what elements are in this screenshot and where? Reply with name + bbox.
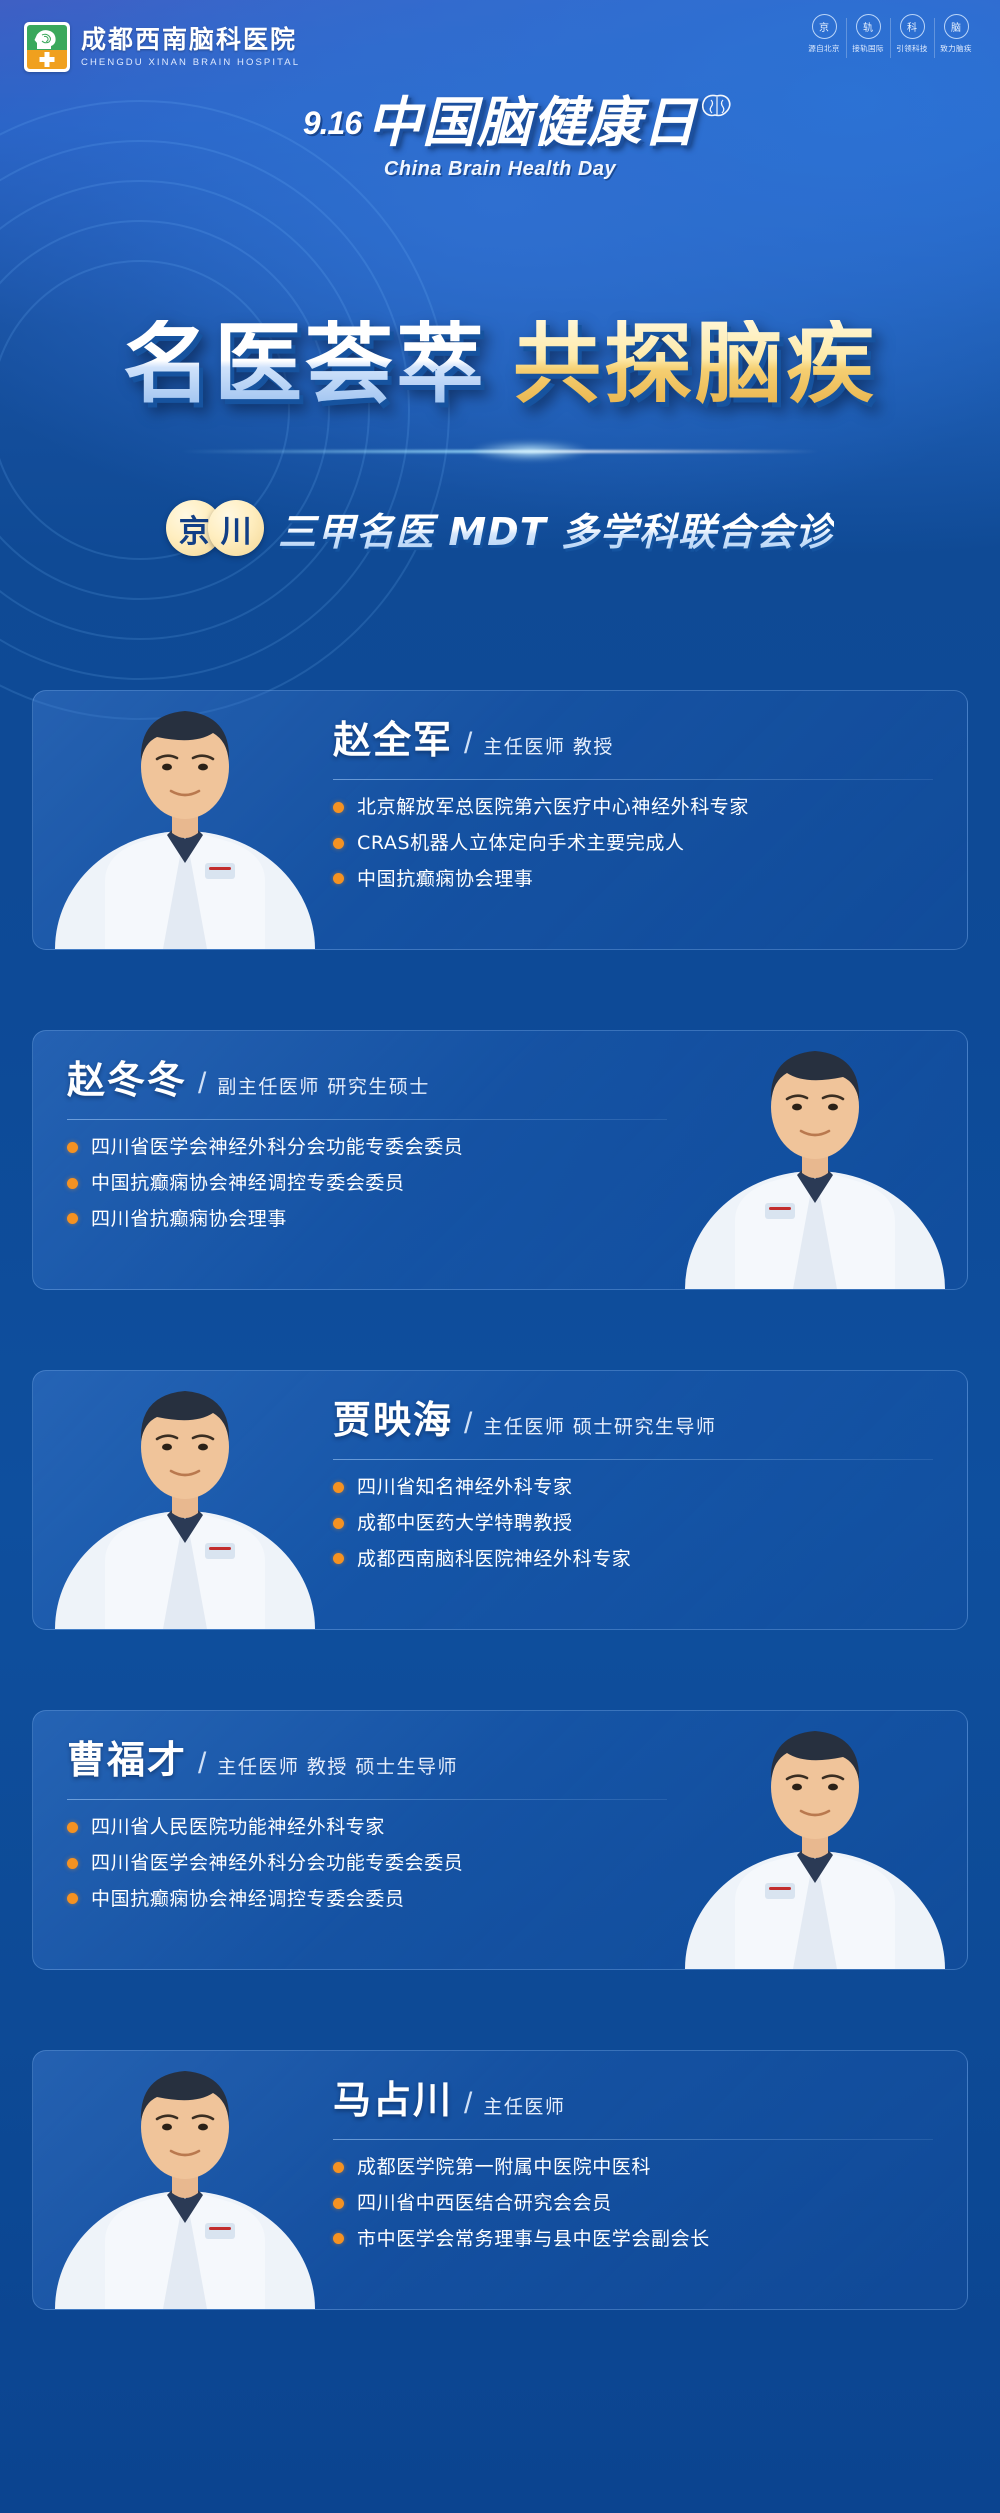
bullet-dot-icon	[333, 1518, 344, 1529]
doctor-photo	[45, 649, 325, 949]
name-title-separator: /	[464, 1407, 472, 1441]
event-date: 9.16	[303, 108, 361, 138]
doctor-card[interactable]: 曹福才/主任医师 教授 硕士生导师四川省人民医院功能神经外科专家四川省医学会神经…	[32, 1710, 968, 1970]
doctor-card[interactable]: 赵全军/主任医师 教授北京解放军总医院第六医疗中心神经外科专家CRAS机器人立体…	[32, 690, 968, 950]
doctor-nameline: 贾映海/主任医师 硕士研究生导师	[333, 1401, 933, 1441]
doctor-photo	[675, 1669, 955, 1969]
credential-text: 四川省抗癫痫协会理事	[91, 1208, 287, 1231]
bullet-dot-icon	[333, 838, 344, 849]
feature-badges: 京源自北京轨接轨国际科引领科技脑致力脑疾	[802, 14, 978, 54]
feature-badge-2: 轨接轨国际	[846, 14, 890, 54]
feature-badge-3: 科引领科技	[890, 14, 934, 54]
credential-item: 四川省中西医结合研究会会员	[333, 2192, 933, 2215]
medical-cross-icon	[40, 52, 55, 67]
credential-item: CRAS机器人立体定向手术主要完成人	[333, 832, 933, 855]
doctor-photo	[45, 1329, 325, 1629]
feature-badge-label: 致力脑疾	[938, 43, 974, 54]
headline-part-2: 共探脑疾	[513, 320, 877, 408]
card-divider	[67, 1799, 667, 1800]
doctor-title: 副主任医师 研究生硕士	[217, 1072, 430, 1099]
doctor-title: 主任医师 硕士研究生导师	[483, 1412, 716, 1439]
credential-text: CRAS机器人立体定向手术主要完成人	[357, 832, 685, 855]
event-title-cn: 中国脑健康日	[367, 96, 697, 150]
headline-part-1: 名医荟萃	[123, 320, 487, 408]
bullet-dot-icon	[333, 873, 344, 884]
credentials-list: 北京解放军总医院第六医疗中心神经外科专家CRAS机器人立体定向手术主要完成人中国…	[333, 796, 933, 890]
credential-text: 四川省人民医院功能神经外科专家	[91, 1816, 385, 1839]
doctor-card[interactable]: 赵冬冬/副主任医师 研究生硕士四川省医学会神经外科分会功能专委会委员中国抗癫痫协…	[32, 1030, 968, 1290]
credential-item: 四川省知名神经外科专家	[333, 1476, 933, 1499]
credential-text: 成都中医药大学特聘教授	[357, 1512, 573, 1535]
head-silhouette-icon	[33, 29, 58, 50]
brain-icon	[702, 94, 732, 120]
circle-badge-icon: 科	[900, 14, 925, 39]
doctor-nameline: 赵全军/主任医师 教授	[333, 721, 933, 761]
doctor-info: 马占川/主任医师成都医学院第一附属中医院中医科四川省中西医结合研究会会员市中医学…	[333, 2081, 933, 2263]
credential-item: 成都西南脑科医院神经外科专家	[333, 1548, 933, 1571]
doctor-photo-wrapper	[45, 649, 325, 949]
doctor-name: 贾映海	[333, 1401, 453, 1439]
card-divider	[333, 1459, 933, 1460]
credential-item: 成都医学院第一附属中医院中医科	[333, 2156, 933, 2179]
doctor-name: 马占川	[333, 2081, 453, 2119]
doctor-card[interactable]: 贾映海/主任医师 硕士研究生导师四川省知名神经外科专家成都中医药大学特聘教授成都…	[32, 1370, 968, 1630]
credential-text: 北京解放军总医院第六医疗中心神经外科专家	[357, 796, 749, 819]
doctor-nameline: 赵冬冬/副主任医师 研究生硕士	[67, 1061, 667, 1101]
hospital-logo: 成都西南脑科医院 CHENGDU XINAN BRAIN HOSPITAL	[24, 22, 300, 72]
bullet-dot-icon	[67, 1858, 78, 1869]
glow-highlight	[470, 441, 590, 461]
doctor-photo	[675, 989, 955, 1289]
bullet-dot-icon	[67, 1142, 78, 1153]
card-divider	[333, 779, 933, 780]
credential-item: 成都中医药大学特聘教授	[333, 1512, 933, 1535]
feature-badge-1: 京源自北京	[802, 14, 846, 54]
credential-text: 四川省医学会神经外科分会功能专委会委员	[91, 1136, 463, 1159]
hospital-name-cn: 成都西南脑科医院	[81, 26, 300, 54]
doctor-title: 主任医师 教授	[483, 732, 614, 759]
doctor-name: 赵全军	[333, 721, 453, 759]
doctor-info: 赵全军/主任医师 教授北京解放军总医院第六医疗中心神经外科专家CRAS机器人立体…	[333, 721, 933, 903]
credential-item: 四川省医学会神经外科分会功能专委会委员	[67, 1852, 667, 1875]
credential-item: 北京解放军总医院第六医疗中心神经外科专家	[333, 796, 933, 819]
credential-text: 成都医学院第一附属中医院中医科	[357, 2156, 651, 2179]
doctor-photo-wrapper	[45, 2009, 325, 2309]
credential-item: 中国抗癫痫协会神经调控专委会委员	[67, 1172, 667, 1195]
doctor-info: 赵冬冬/副主任医师 研究生硕士四川省医学会神经外科分会功能专委会委员中国抗癫痫协…	[67, 1061, 667, 1243]
credential-text: 市中医学会常务理事与县中医学会副会长	[357, 2228, 710, 2251]
name-title-separator: /	[198, 1747, 206, 1781]
doctor-nameline: 曹福才/主任医师 教授 硕士生导师	[67, 1741, 667, 1781]
feature-badge-label: 源自北京	[806, 43, 842, 54]
doctor-photo-wrapper	[675, 1669, 955, 1969]
card-divider	[67, 1119, 667, 1120]
credentials-list: 四川省医学会神经外科分会功能专委会委员中国抗癫痫协会神经调控专委会委员四川省抗癫…	[67, 1136, 667, 1230]
doctor-title: 主任医师 教授 硕士生导师	[217, 1752, 458, 1779]
doctor-photo-wrapper	[675, 989, 955, 1289]
doctor-name: 曹福才	[67, 1741, 187, 1779]
poster-root: 成都西南脑科医院 CHENGDU XINAN BRAIN HOSPITAL 京源…	[0, 0, 1000, 2513]
credential-item: 中国抗癫痫协会理事	[333, 868, 933, 891]
feature-badge-4: 脑致力脑疾	[934, 14, 978, 54]
mdt-text: 三甲名医 MDT 多学科联合会诊	[278, 501, 834, 556]
doctor-info: 贾映海/主任医师 硕士研究生导师四川省知名神经外科专家成都中医药大学特聘教授成都…	[333, 1401, 933, 1583]
doctor-info: 曹福才/主任医师 教授 硕士生导师四川省人民医院功能神经外科专家四川省医学会神经…	[67, 1741, 667, 1923]
card-divider	[333, 2139, 933, 2140]
doctor-name: 赵冬冬	[67, 1061, 187, 1099]
doctor-title: 主任医师	[483, 2092, 565, 2119]
region-chip-sichuan: 川	[208, 500, 264, 556]
credentials-list: 四川省知名神经外科专家成都中医药大学特聘教授成都西南脑科医院神经外科专家	[333, 1476, 933, 1570]
doctor-nameline: 马占川/主任医师	[333, 2081, 933, 2121]
doctor-card[interactable]: 马占川/主任医师成都医学院第一附属中医院中医科四川省中西医结合研究会会员市中医学…	[32, 2050, 968, 2310]
credential-item: 市中医学会常务理事与县中医学会副会长	[333, 2228, 933, 2251]
name-title-separator: /	[198, 1067, 206, 1101]
name-title-separator: /	[464, 727, 472, 761]
bullet-dot-icon	[67, 1822, 78, 1833]
credential-text: 四川省医学会神经外科分会功能专委会委员	[91, 1852, 463, 1875]
circle-badge-icon: 轨	[856, 14, 881, 39]
bullet-dot-icon	[333, 2198, 344, 2209]
page-header: 成都西南脑科医院 CHENGDU XINAN BRAIN HOSPITAL 京源…	[0, 0, 1000, 88]
credentials-list: 成都医学院第一附属中医院中医科四川省中西医结合研究会会员市中医学会常务理事与县中…	[333, 2156, 933, 2250]
credential-text: 四川省中西医结合研究会会员	[357, 2192, 612, 2215]
hospital-name-en: CHENGDU XINAN BRAIN HOSPITAL	[81, 57, 300, 68]
bullet-dot-icon	[67, 1213, 78, 1224]
credential-text: 中国抗癫痫协会神经调控专委会委员	[91, 1888, 405, 1911]
doctor-photo-wrapper	[45, 1329, 325, 1629]
credential-item: 四川省抗癫痫协会理事	[67, 1208, 667, 1231]
credential-text: 成都西南脑科医院神经外科专家	[357, 1548, 631, 1571]
brain-head-cross-logo-icon	[24, 22, 70, 72]
credential-item: 四川省医学会神经外科分会功能专委会委员	[67, 1136, 667, 1159]
main-headline: 名医荟萃共探脑疾	[0, 320, 1000, 408]
bullet-dot-icon	[333, 802, 344, 813]
circle-badge-icon: 脑	[944, 14, 969, 39]
bullet-dot-icon	[333, 2162, 344, 2173]
credential-text: 四川省知名神经外科专家	[357, 1476, 573, 1499]
bullet-dot-icon	[67, 1178, 78, 1189]
brain-health-day-title: 9.16 中国脑健康日 China Brain Health Day	[0, 96, 1000, 181]
event-title-en: China Brain Health Day	[0, 158, 1000, 181]
credentials-list: 四川省人民医院功能神经外科专家四川省医学会神经外科分会功能专委会委员中国抗癫痫协…	[67, 1816, 667, 1910]
credential-text: 中国抗癫痫协会神经调控专委会委员	[91, 1172, 405, 1195]
feature-badge-label: 引领科技	[894, 43, 930, 54]
bullet-dot-icon	[333, 2233, 344, 2244]
credential-text: 中国抗癫痫协会理事	[357, 868, 533, 891]
credential-item: 四川省人民医院功能神经外科专家	[67, 1816, 667, 1839]
circle-badge-icon: 京	[812, 14, 837, 39]
doctor-photo	[45, 2009, 325, 2309]
bullet-dot-icon	[333, 1553, 344, 1564]
credential-item: 中国抗癫痫协会神经调控专委会委员	[67, 1888, 667, 1911]
bullet-dot-icon	[333, 1482, 344, 1493]
mdt-subtitle-bar: 京 川 三甲名医 MDT 多学科联合会诊	[0, 500, 1000, 556]
bullet-dot-icon	[67, 1893, 78, 1904]
feature-badge-label: 接轨国际	[850, 43, 886, 54]
name-title-separator: /	[464, 2087, 472, 2121]
